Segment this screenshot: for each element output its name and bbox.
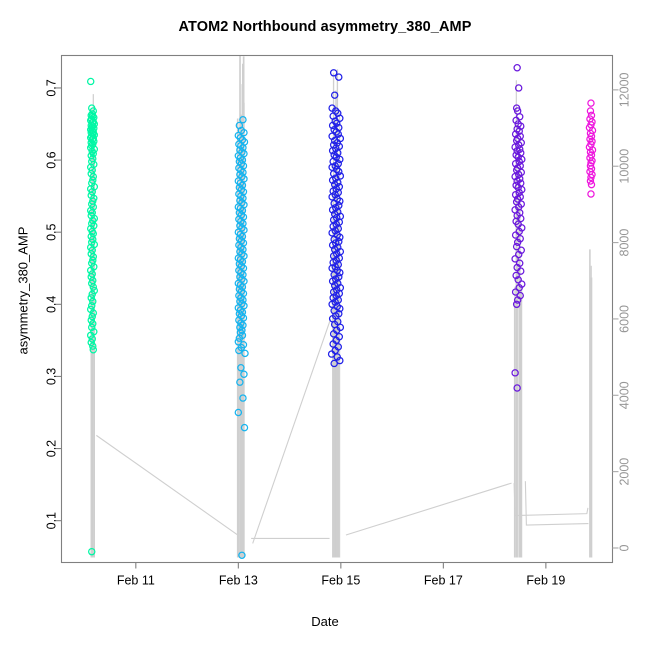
svg-text:0.4: 0.4 [45,296,59,313]
plot-figure: ATOM2 Northbound asymmetry_380_AMP asymm… [0,0,650,650]
svg-text:0.7: 0.7 [45,79,59,96]
svg-text:4000: 4000 [618,381,632,409]
svg-text:0.5: 0.5 [45,223,59,240]
svg-text:10000: 10000 [618,149,632,184]
plot-canvas: 0.10.20.30.40.50.60.70200040006000800010… [0,0,650,650]
svg-text:Feb 15: Feb 15 [321,574,360,588]
svg-text:2000: 2000 [618,458,632,486]
svg-text:8000: 8000 [618,229,632,257]
series-cluster-feb20 [586,100,595,197]
svg-text:0.2: 0.2 [45,440,59,457]
svg-text:0.6: 0.6 [45,151,59,168]
svg-text:Feb 11: Feb 11 [117,574,155,588]
svg-text:0.1: 0.1 [45,512,59,529]
svg-text:0: 0 [618,544,632,551]
svg-text:Feb 19: Feb 19 [526,574,565,588]
svg-text:12000: 12000 [618,72,632,107]
series-cluster-feb15 [329,70,344,367]
svg-text:0.3: 0.3 [45,368,59,385]
svg-text:Feb 13: Feb 13 [219,574,258,588]
svg-text:6000: 6000 [618,305,632,333]
svg-text:Feb 17: Feb 17 [424,574,463,588]
